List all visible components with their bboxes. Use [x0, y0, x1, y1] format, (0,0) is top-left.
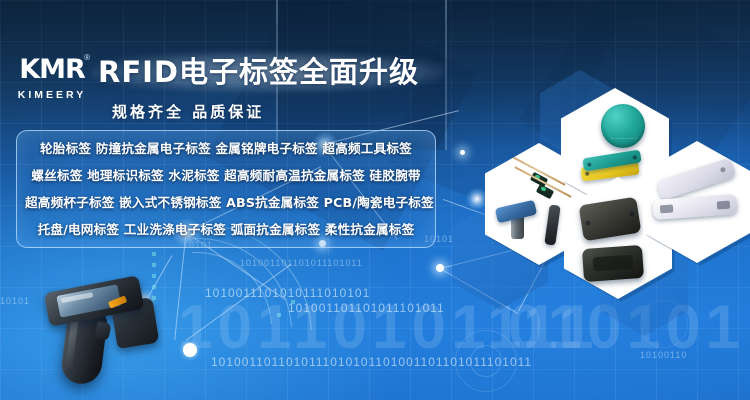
registered-trademark-icon: ®	[84, 53, 90, 62]
strip-tag-teal-hole-2	[633, 155, 638, 160]
tag-row: 超高频杯子标签 嵌入式不锈钢标签 ABS抗金属标签 PCB/陶瓷电子标签	[25, 189, 427, 216]
network-node-3	[436, 264, 444, 272]
page-title: RFID电子标签全面升级	[98, 50, 443, 94]
network-node-5	[460, 150, 465, 155]
flex-tag-lower-slot-1	[660, 205, 674, 214]
plate-tag-dark-back	[582, 245, 644, 282]
background-binary-row-8: 10101	[0, 296, 30, 306]
plate-tag-dark-front	[579, 197, 642, 242]
tag-row: 螺丝标签 地理标识标签 水泥标签 超高频耐高温抗金属标签 硅胶腕带	[25, 162, 427, 189]
plate-tag-back-groove	[593, 255, 634, 272]
strip-tag-teal-hole	[587, 162, 592, 167]
flex-tag-upper-hole	[720, 167, 726, 173]
deco-ring-2	[470, 345, 502, 377]
rfid-promo-banner: 10110101111 010101 101001110101011101010…	[0, 0, 750, 400]
background-binary-row-2: 101001101101011101011	[288, 301, 445, 315]
round-disc-tag-teal	[601, 104, 645, 148]
flex-tag-lower-slot-2	[717, 201, 731, 210]
plate-tag-front-hole	[585, 220, 591, 226]
page-subtitle: 规格齐全 品质保证	[112, 101, 264, 122]
background-binary-row-4: 10100110	[640, 350, 687, 360]
logo-text: KMR	[19, 56, 85, 83]
handheld-rfid-reader[interactable]	[40, 278, 170, 396]
glow-node-5	[466, 188, 488, 210]
tag-row: 托盘/电网标签 工业洗涤电子标签 弧面抗金属标签 柔性抗金属标签	[25, 216, 427, 243]
strip-tag-yellow-hole	[585, 172, 589, 176]
rod-tag-black	[544, 204, 560, 245]
tag-row: 轮胎标签 防撞抗金属电子标签 金属铭牌电子标签 超高频工具标签	[25, 135, 427, 162]
logo-mark: KMR ®	[12, 52, 92, 86]
plate-tag-front-hole-2	[629, 211, 635, 217]
brand-wordmark: KIMEERY	[12, 89, 92, 101]
brand-logo[interactable]: KMR ® KIMEERY	[12, 52, 92, 108]
product-tag-panel: 轮胎标签 防撞抗金属电子标签 金属铭牌电子标签 超高频工具标签 螺丝标签 地理标…	[16, 130, 436, 248]
reader-trigger[interactable]	[94, 321, 111, 342]
headline-wrapper: RFID电子标签全面升级	[98, 50, 443, 94]
